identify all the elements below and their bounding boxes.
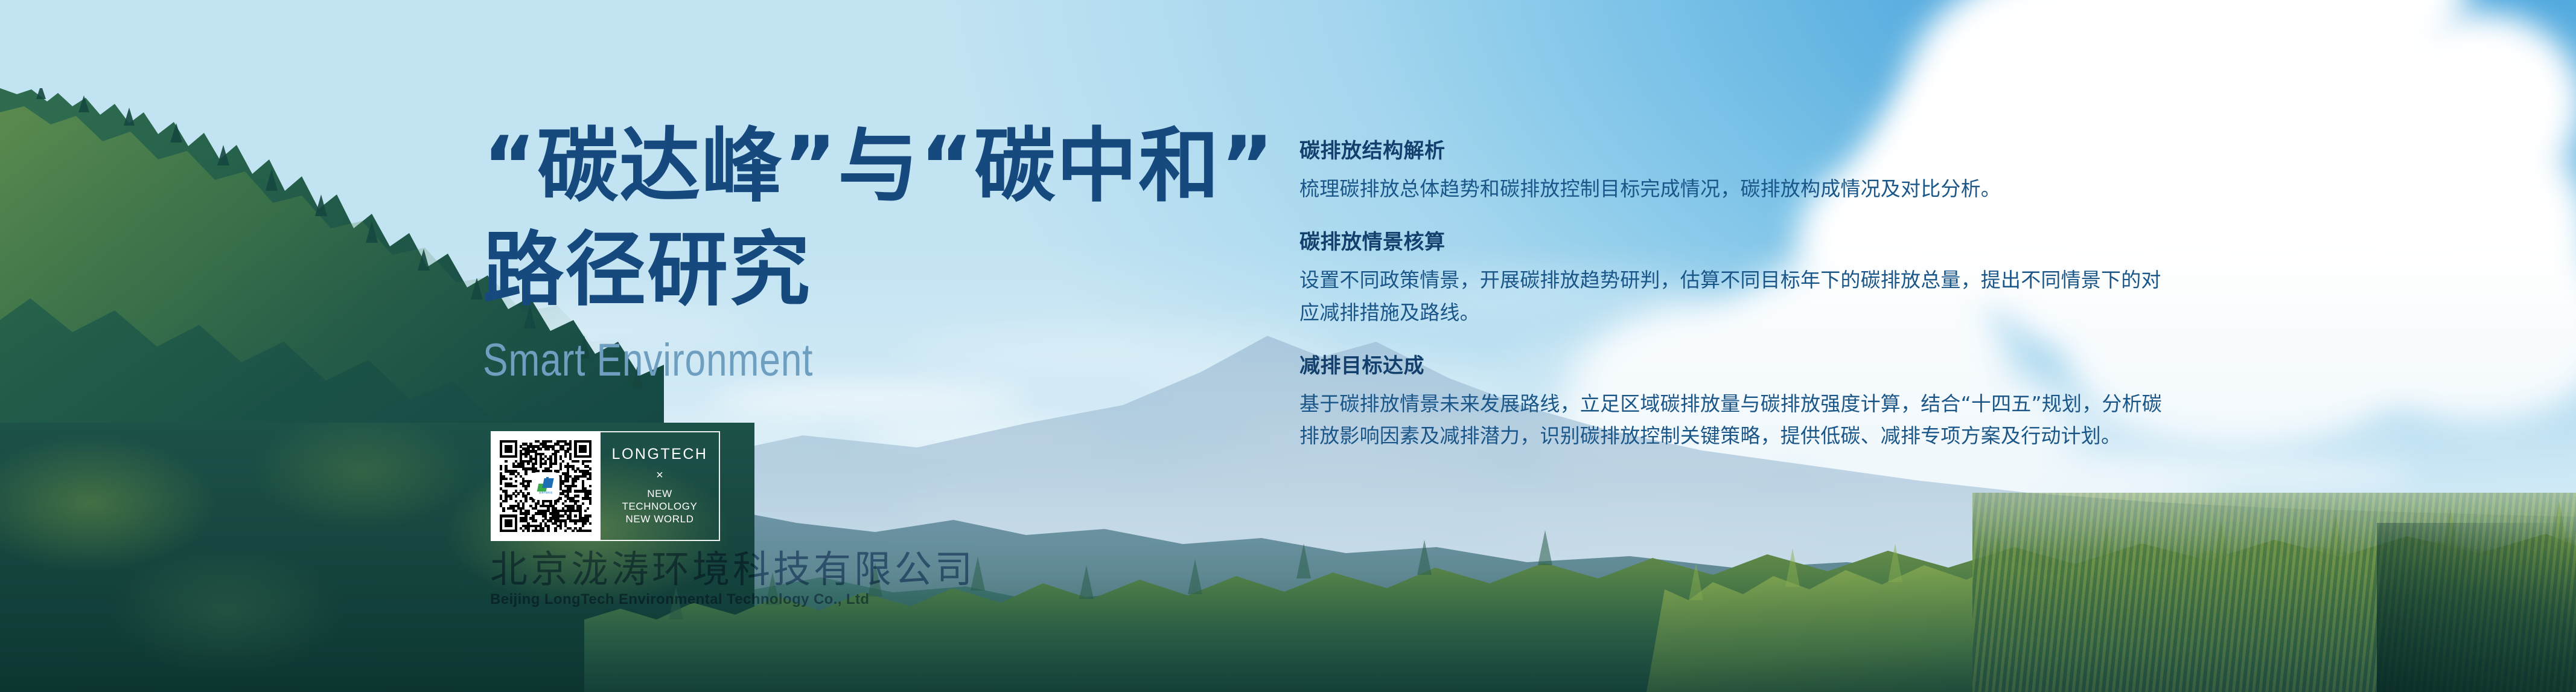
page-title-line-1: “碳达峰”与“碳中和” [483, 115, 1237, 219]
info-block-body: 设置不同政策情景，开展碳排放趋势研判，估算不同目标年下的碳排放总量，提出不同情景… [1299, 264, 2163, 328]
info-block-heading: 碳排放情景核算 [1299, 229, 2163, 257]
qr-card-brand-panel: LONGTECH × NEW TECHNOLOGY NEW WORLD [601, 431, 720, 541]
hero-title-block: “碳达峰”与“碳中和” 路径研究 Smart Environment [483, 115, 1237, 383]
qr-card[interactable]: 泷涛环境科技 LONGTECH × NEW TECHNOLOGY NEW WOR… [491, 431, 720, 541]
tagline-line-3: NEW WORLD [622, 513, 697, 525]
info-block-scenario-accounting: 碳排放情景核算 设置不同政策情景，开展碳排放趋势研判，估算不同目标年下的碳排放总… [1299, 229, 2163, 328]
info-block-carbon-structure: 碳排放结构解析 梳理碳排放总体趋势和碳排放控制目标完成情况，碳排放构成情况及对比… [1299, 138, 2163, 205]
company-logo-icon: 泷涛环境科技 [533, 473, 558, 499]
hero-subtitle: Smart Environment [483, 338, 1101, 383]
logo-caption: 泷涛环境科技 [539, 492, 553, 494]
info-block-heading: 减排目标达成 [1299, 353, 2163, 380]
info-block-heading: 碳排放结构解析 [1299, 138, 2163, 165]
brand-tagline: NEW TECHNOLOGY NEW WORLD [622, 487, 697, 526]
brand-name: LONGTECH [612, 447, 708, 462]
company-watermark: 北京泷涛环境科技有限公司 Beijing LongTech Environmen… [490, 551, 975, 608]
info-block-emission-target: 减排目标达成 基于碳排放情景未来发展路线，立足区域碳排放量与碳排放强度计算，结合… [1299, 353, 2163, 452]
tagline-line-2: TECHNOLOGY [622, 500, 697, 513]
tagline-line-1: NEW [622, 487, 697, 500]
qr-code-panel[interactable]: 泷涛环境科技 [491, 431, 601, 541]
info-block-body: 梳理碳排放总体趋势和碳排放控制目标完成情况，碳排放构成情况及对比分析。 [1299, 173, 2163, 205]
watermark-company-cn: 北京泷涛环境科技有限公司 [490, 551, 975, 588]
page-title-line-2: 路径研究 [483, 219, 1237, 322]
logo-glyph [538, 478, 553, 492]
info-blocks-container: 碳排放结构解析 梳理碳排放总体趋势和碳排放控制目标完成情况，碳排放构成情况及对比… [1299, 138, 2163, 452]
info-block-body: 基于碳排放情景未来发展路线，立足区域碳排放量与碳排放强度计算，结合“十四五”规划… [1299, 388, 2163, 452]
watermark-company-en: Beijing LongTech Environmental Technolog… [490, 591, 975, 608]
forest-right-corner-shadow [2377, 523, 2576, 692]
cross-icon: × [656, 469, 663, 481]
hero-banner: “碳达峰”与“碳中和” 路径研究 Smart Environment 碳排放结构… [0, 0, 2576, 692]
